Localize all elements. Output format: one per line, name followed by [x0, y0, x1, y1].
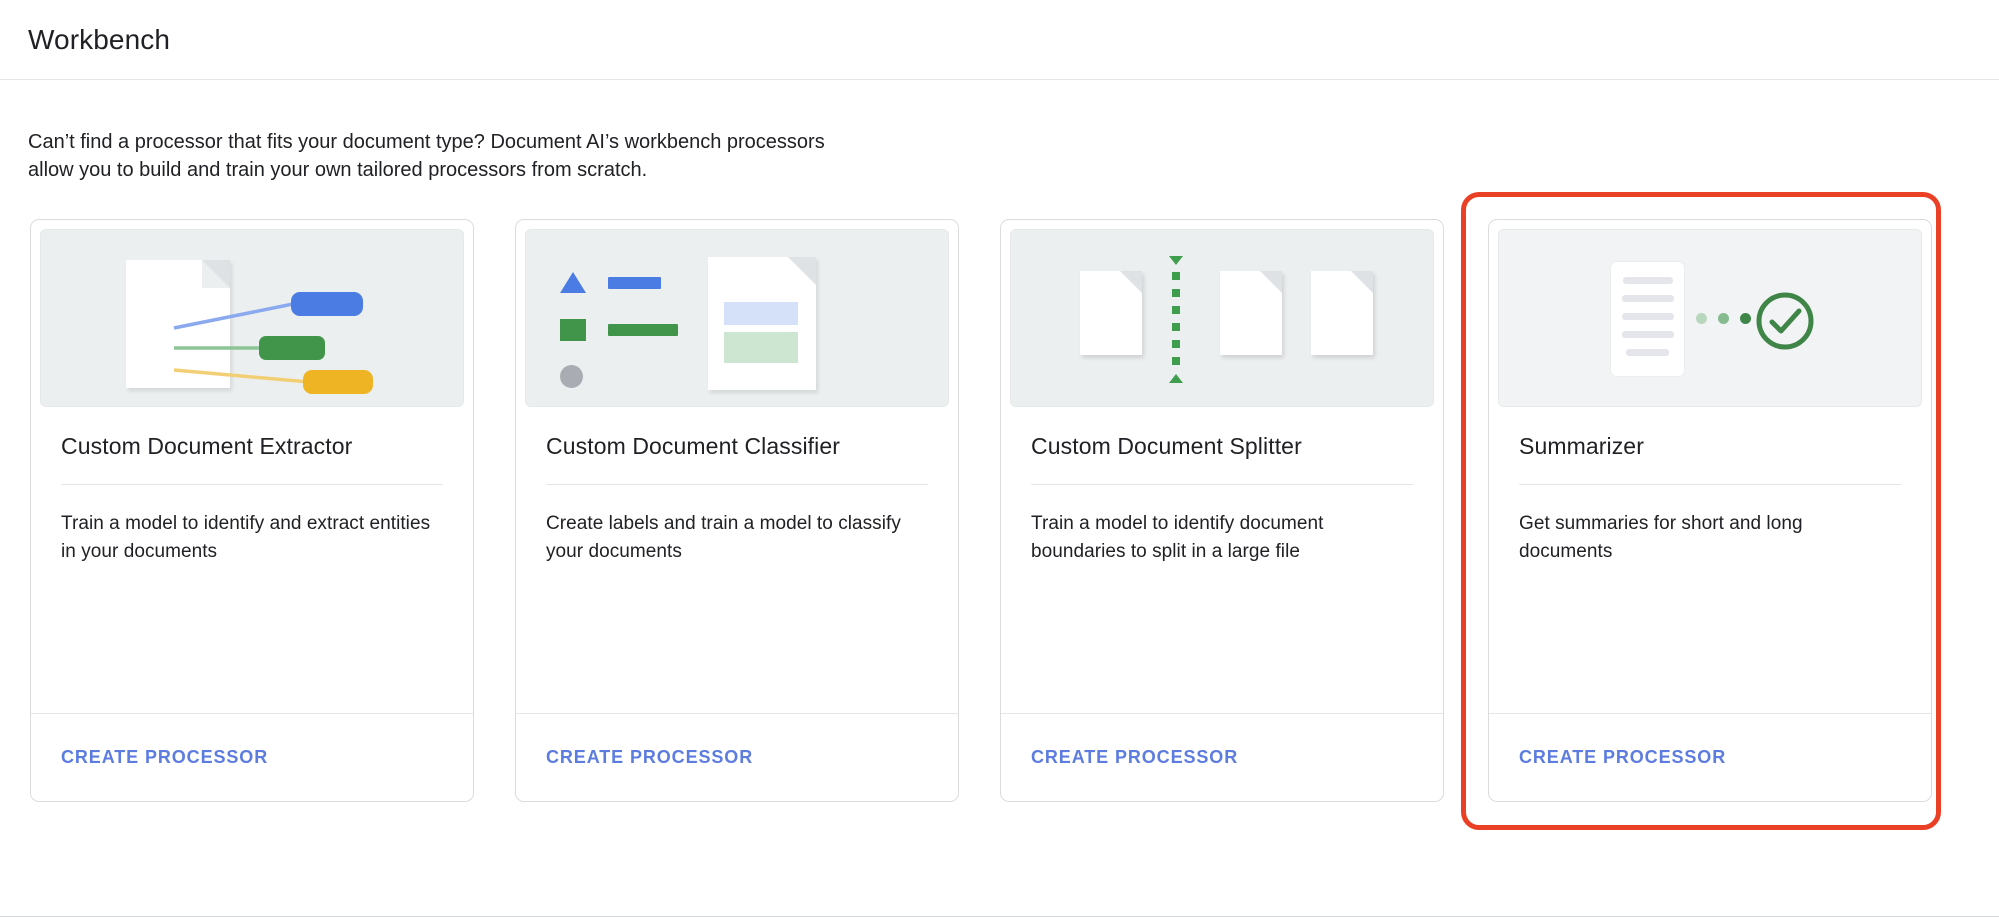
progress-dots	[1696, 313, 1751, 324]
document-text-line	[1626, 349, 1669, 356]
card-title: Custom Document Classifier	[546, 433, 928, 461]
card-body: Custom Document Classifier Create labels…	[516, 407, 958, 713]
document-text-line	[1623, 277, 1673, 284]
card-title: Custom Document Extractor	[61, 433, 443, 461]
card-body: Custom Document Splitter Train a model t…	[1001, 407, 1443, 713]
document-sheet-shape	[1080, 271, 1142, 355]
create-processor-button[interactable]: CREATE PROCESSOR	[61, 747, 268, 768]
split-dot	[1172, 272, 1180, 280]
page-header: Workbench	[0, 0, 1999, 80]
create-processor-button[interactable]: CREATE PROCESSOR	[546, 747, 753, 768]
card-description: Create labels and train a model to class…	[546, 510, 928, 565]
card-divider	[1031, 484, 1413, 485]
arrow-up-icon	[1169, 374, 1183, 383]
card-footer: CREATE PROCESSOR	[1001, 713, 1443, 801]
card-description: Train a model to identify and extract en…	[61, 510, 443, 565]
document-text-line	[1622, 331, 1674, 338]
document-fold-corner	[1351, 271, 1373, 293]
document-classification-icon	[525, 229, 949, 407]
card-slot-summarizer: Summarizer Get summaries for short and l…	[1485, 219, 1932, 802]
document-entity-extraction-icon	[40, 229, 464, 407]
legend-row-gray	[560, 362, 678, 392]
processor-card-custom-document-splitter[interactable]: Custom Document Splitter Train a model t…	[1000, 219, 1444, 802]
split-dot	[1172, 289, 1180, 297]
processor-card-grid: Custom Document Extractor Train a model …	[30, 219, 1999, 802]
processor-card-summarizer[interactable]: Summarizer Get summaries for short and l…	[1488, 219, 1932, 802]
document-sheet-shape	[1610, 261, 1685, 377]
card-description: Get summaries for short and long documen…	[1519, 510, 1901, 565]
create-processor-button[interactable]: CREATE PROCESSOR	[1519, 747, 1726, 768]
arrow-down-icon	[1169, 256, 1183, 265]
card-slot-custom-document-classifier: Custom Document Classifier Create labels…	[515, 219, 959, 802]
card-title: Summarizer	[1519, 433, 1901, 461]
entity-connector-lines	[41, 230, 464, 407]
progress-dot	[1718, 313, 1729, 324]
document-split-icon	[1010, 229, 1434, 407]
legend-row-green	[560, 315, 678, 345]
legend-bar-green	[608, 324, 678, 336]
progress-dot	[1696, 313, 1707, 324]
classified-block-green	[724, 332, 798, 363]
document-fold-corner	[788, 257, 816, 285]
document-sheet-shape	[708, 257, 816, 390]
document-sheet-shape	[1220, 271, 1282, 355]
card-footer: CREATE PROCESSOR	[516, 713, 958, 801]
legend-row-blue	[560, 268, 678, 298]
classification-legend	[560, 268, 678, 407]
processor-card-custom-document-classifier[interactable]: Custom Document Classifier Create labels…	[515, 219, 959, 802]
document-text-line	[1622, 313, 1674, 320]
progress-dot	[1740, 313, 1751, 324]
card-slot-custom-document-extractor: Custom Document Extractor Train a model …	[30, 219, 474, 802]
document-fold-corner	[1120, 271, 1142, 293]
card-title: Custom Document Splitter	[1031, 433, 1413, 461]
card-description: Train a model to identify document bound…	[1031, 510, 1413, 565]
card-slot-custom-document-splitter: Custom Document Splitter Train a model t…	[1000, 219, 1444, 802]
card-divider	[61, 484, 443, 485]
circle-icon	[560, 365, 596, 388]
page-title: Workbench	[28, 24, 170, 56]
card-body: Summarizer Get summaries for short and l…	[1489, 407, 1931, 713]
create-processor-button[interactable]: CREATE PROCESSOR	[1031, 747, 1238, 768]
card-body: Custom Document Extractor Train a model …	[31, 407, 473, 713]
classified-block-blue	[724, 302, 798, 325]
document-text-line	[1622, 295, 1674, 302]
card-divider	[1519, 484, 1901, 485]
split-dot	[1172, 357, 1180, 365]
document-sheet-shape	[1311, 271, 1373, 355]
card-divider	[546, 484, 928, 485]
split-divider-line	[1169, 256, 1183, 383]
check-circle-icon	[1754, 290, 1816, 357]
legend-bar-blue	[608, 277, 661, 289]
document-fold-corner	[1260, 271, 1282, 293]
split-dot	[1172, 340, 1180, 348]
document-summary-check-icon	[1498, 229, 1922, 407]
processor-card-custom-document-extractor[interactable]: Custom Document Extractor Train a model …	[30, 219, 474, 802]
split-dot	[1172, 306, 1180, 314]
card-footer: CREATE PROCESSOR	[31, 713, 473, 801]
split-dot	[1172, 323, 1180, 331]
triangle-icon	[560, 272, 596, 293]
card-footer: CREATE PROCESSOR	[1489, 713, 1931, 801]
square-icon	[560, 319, 596, 341]
intro-paragraph: Can’t find a processor that fits your do…	[28, 128, 858, 185]
